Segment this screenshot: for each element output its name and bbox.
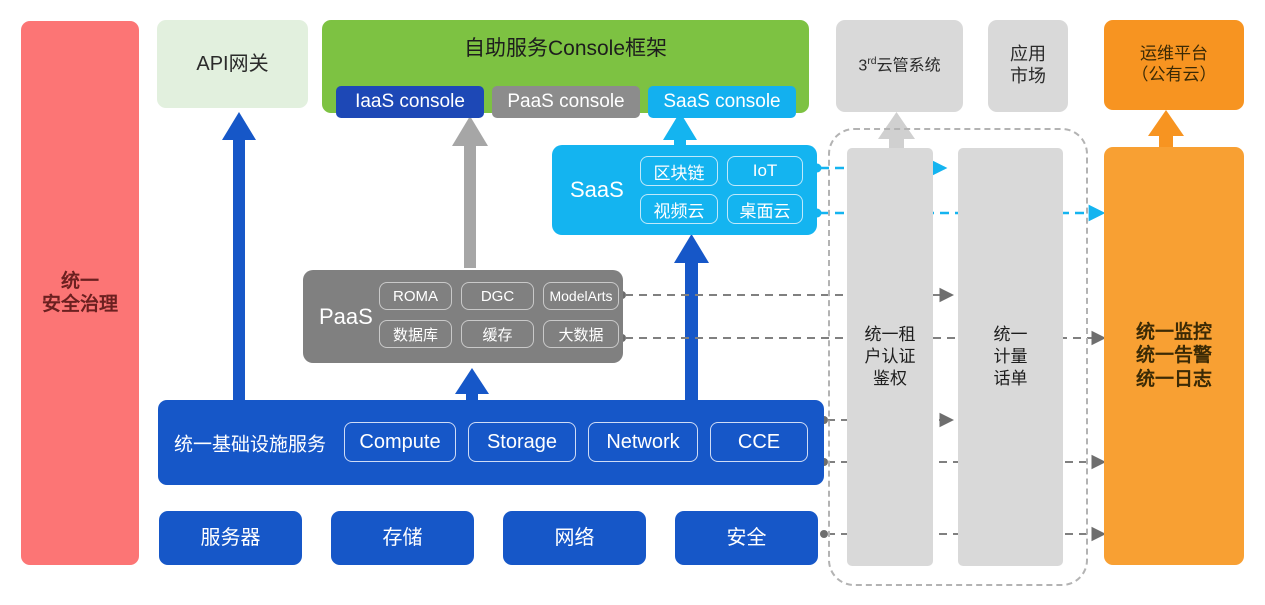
console-chip-saas[interactable]: SaaS console <box>648 86 796 118</box>
arrow-infra-to-saas <box>674 234 709 412</box>
infra-chip-compute[interactable]: Compute <box>344 422 456 462</box>
ops-platform-public-cloud-box[interactable]: 运维平台 （公有云） <box>1104 20 1244 110</box>
unified-infrastructure-service-label: 统一基础设施服务 <box>174 429 326 456</box>
paas-chip-dgc[interactable]: DGC <box>461 282 534 310</box>
paas-chip-modelarts[interactable]: ModelArts <box>543 282 619 310</box>
console-chip-iaas[interactable]: IaaS console <box>336 86 484 118</box>
unified-metering-billing-column[interactable]: 统一 计量 话单 <box>958 148 1063 566</box>
saas-chip-iot[interactable]: IoT <box>727 156 803 186</box>
unified-monitoring-alarm-log-panel[interactable]: 统一监控 统一告警 统一日志 <box>1104 147 1244 565</box>
third-party-cloud-management-box[interactable]: 3rd云管系统 <box>836 20 963 112</box>
unified-security-governance-panel[interactable]: 统一 安全治理 <box>21 21 139 565</box>
console-chip-paas[interactable]: PaaS console <box>492 86 640 118</box>
hardware-box-security[interactable]: 安全 <box>675 511 818 565</box>
architecture-diagram: 统一 安全治理 API网关 自助服务Console框架 IaaS console… <box>0 0 1265 605</box>
hardware-box-server[interactable]: 服务器 <box>159 511 302 565</box>
third-party-cloud-label: 3rd云管系统 <box>858 56 940 76</box>
saas-chip-blockchain[interactable]: 区块链 <box>640 156 718 186</box>
arrow-ops-to-ops-public-cloud <box>1148 110 1184 148</box>
infra-chip-storage[interactable]: Storage <box>468 422 576 462</box>
api-gateway-box[interactable]: API网关 <box>157 20 308 108</box>
paas-panel[interactable]: PaaS ROMA DGC ModelArts 数据库 缓存 大数据 <box>303 270 623 363</box>
saas-panel[interactable]: SaaS 区块链 IoT 视频云 桌面云 <box>552 145 817 235</box>
arrow-infra-to-apigateway <box>222 112 256 408</box>
infra-chip-network[interactable]: Network <box>588 422 698 462</box>
saas-chip-desktop-cloud[interactable]: 桌面云 <box>727 194 803 224</box>
paas-panel-label: PaaS <box>319 304 373 330</box>
infra-chip-cce[interactable]: CCE <box>710 422 808 462</box>
saas-panel-label: SaaS <box>570 177 624 203</box>
self-service-console-framework[interactable]: 自助服务Console框架 IaaS console PaaS console … <box>322 20 809 113</box>
paas-chip-bigdata[interactable]: 大数据 <box>543 320 619 348</box>
hardware-box-network[interactable]: 网络 <box>503 511 646 565</box>
arrow-paas-to-console <box>452 116 488 268</box>
unified-tenant-auth-column[interactable]: 统一租 户认证 鉴权 <box>847 148 933 566</box>
paas-chip-cache[interactable]: 缓存 <box>461 320 534 348</box>
unified-infrastructure-service-bar[interactable]: 统一基础设施服务 Compute Storage Network CCE <box>158 400 824 485</box>
saas-chip-video-cloud[interactable]: 视频云 <box>640 194 718 224</box>
console-framework-title: 自助服务Console框架 <box>322 36 809 62</box>
hardware-box-storage[interactable]: 存储 <box>331 511 474 565</box>
paas-chip-roma[interactable]: ROMA <box>379 282 452 310</box>
app-marketplace-box[interactable]: 应用 市场 <box>988 20 1068 112</box>
paas-chip-database[interactable]: 数据库 <box>379 320 452 348</box>
